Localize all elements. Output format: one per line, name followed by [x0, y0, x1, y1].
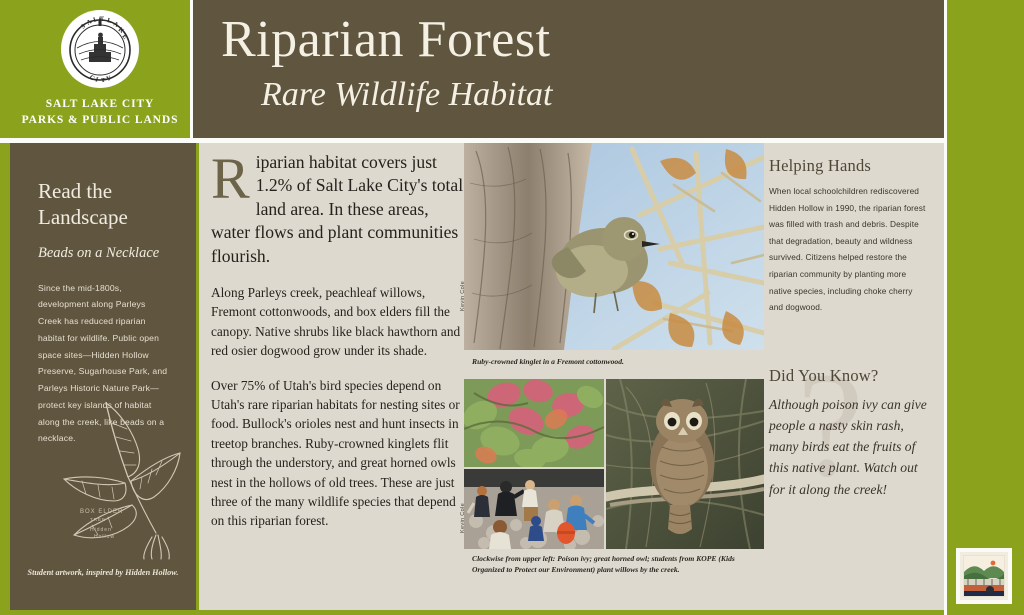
- did-you-know-title: Did You Know?: [769, 366, 944, 386]
- main-photo-caption: Ruby-crowned kinglet in a Fremont cotton…: [472, 356, 762, 367]
- svg-text:T: T: [100, 16, 105, 23]
- collage-caption: Clockwise from upper left: Poison ivy; g…: [472, 553, 762, 576]
- svg-text:BOX ELDER: BOX ELDER: [80, 509, 123, 515]
- salt-lake-city-seal-icon: S A L T L A K E C I T Y: [61, 10, 139, 88]
- helping-hands-title: Helping Hands: [769, 156, 944, 176]
- photo-credit-collage: Kevin Cole: [460, 503, 466, 533]
- page-subtitle: Rare Wildlife Habitat: [261, 78, 553, 112]
- helping-hands-body: When local schoolchildren rediscovered H…: [769, 183, 929, 316]
- main-content-panel: Riparian habitat covers just 1.2% of Sal…: [199, 143, 944, 610]
- svg-text:Hidden: Hidden: [90, 527, 112, 533]
- body-paragraph-2: Along Parleys creek, peachleaf willows, …: [211, 283, 464, 361]
- divider-right: [944, 0, 947, 615]
- ruby-crowned-kinglet-photo: [464, 143, 764, 350]
- body-text-column: Riparian habitat covers just 1.2% of Sal…: [207, 151, 468, 602]
- volunteers-planting-photo: [464, 469, 604, 549]
- great-horned-owl-photo: [606, 379, 764, 549]
- hidden-hollow-landscape-badge-icon: [956, 548, 1012, 604]
- svg-text:TREE: TREE: [90, 517, 106, 522]
- did-you-know-block: ? Did You Know? Although poison ivy can …: [769, 366, 944, 500]
- divider-vertical: [190, 0, 193, 138]
- title-panel: Riparian Forest Rare Wildlife Habitat: [193, 0, 944, 138]
- read-the-landscape-panel: Read the Landscape Beads on a Necklace S…: [10, 143, 196, 610]
- photo-collage: [464, 379, 764, 549]
- interpretive-sign: S A L T L A K E C I T Y SALT LAKE CITY P…: [0, 0, 1024, 615]
- photo-credit-owl: Kevin Cole: [748, 498, 754, 528]
- poison-ivy-photo: [464, 379, 604, 467]
- box-elder-leaf-illustration: BOX ELDER TREE Hidden Hollow: [28, 395, 193, 560]
- sidebar-title-line-2: Landscape: [38, 204, 168, 230]
- did-you-know-body: Although poison ivy can give people a na…: [769, 394, 932, 500]
- right-green-border: [947, 0, 1024, 615]
- org-line-2: PARKS & PUBLIC LANDS: [22, 113, 179, 129]
- page-title: Riparian Forest: [221, 14, 551, 66]
- body-paragraph-3: Over 75% of Utah's bird species depend o…: [211, 376, 464, 531]
- organization-logo-panel: S A L T L A K E C I T Y SALT LAKE CITY P…: [10, 0, 190, 138]
- org-line-1: SALT LAKE CITY: [22, 97, 179, 113]
- organization-name: SALT LAKE CITY PARKS & PUBLIC LANDS: [22, 97, 179, 128]
- photo-credit-kinglet: Kevin Cole: [460, 281, 466, 311]
- artwork-caption: Student artwork, inspired by Hidden Holl…: [10, 568, 196, 577]
- right-info-column: Helping Hands When local schoolchildren …: [769, 143, 944, 610]
- lead-paragraph: Riparian habitat covers just 1.2% of Sal…: [211, 151, 464, 268]
- sidebar-title-line-1: Read the: [38, 178, 168, 204]
- sidebar-title: Read the Landscape: [38, 178, 168, 231]
- svg-text:Hollow: Hollow: [94, 534, 115, 540]
- sidebar-subtitle: Beads on a Necklace: [38, 245, 196, 262]
- left-green-border: [0, 0, 10, 615]
